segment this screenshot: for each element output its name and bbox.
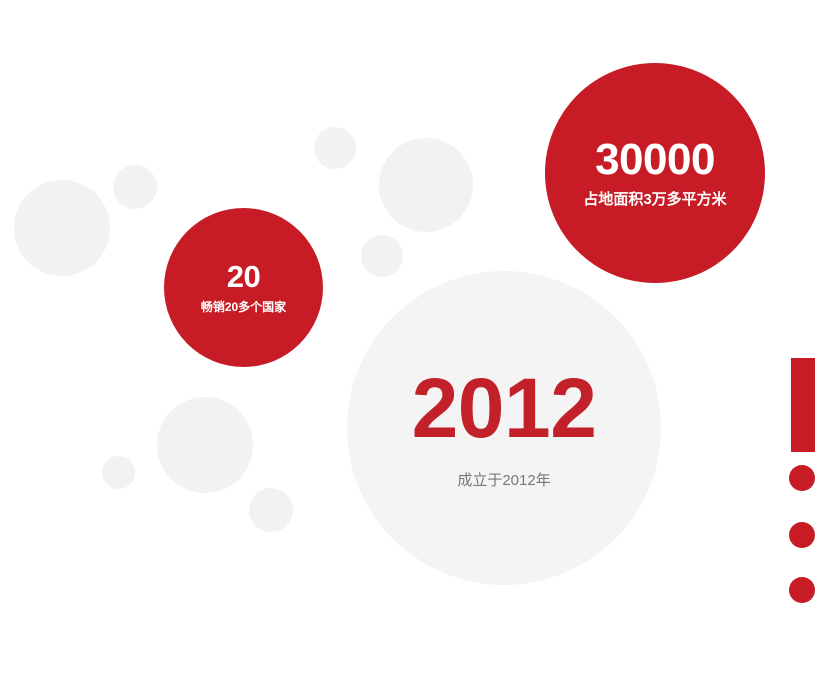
decorative-bubble-medium-lower-left [157, 397, 253, 493]
stat-label-countries: 畅销20多个国家 [201, 300, 286, 314]
stat-bubble-countries[interactable]: 20 畅销20多个国家 [164, 208, 323, 367]
side-bullet-2[interactable] [789, 522, 815, 548]
side-bullet-3[interactable] [789, 577, 815, 603]
stat-value-founded: 2012 [412, 366, 597, 450]
decorative-bubble-small-mid [361, 235, 403, 277]
side-accent-bar [791, 358, 815, 452]
decorative-bubble-medium-top [379, 138, 473, 232]
decorative-bubble-small-top-mid [314, 127, 356, 169]
decorative-bubble-large-left [14, 180, 110, 276]
stat-label-founded: 成立于2012年 [457, 472, 550, 490]
stat-value-area: 30000 [595, 138, 715, 182]
stat-bubble-area[interactable]: 30000 占地面积3万多平方米 [545, 63, 765, 283]
stat-bubble-founded[interactable]: 2012 成立于2012年 [347, 271, 661, 585]
decorative-bubble-small-upper-left [113, 165, 157, 209]
decorative-bubble-small-bottom [249, 488, 293, 532]
side-bullet-1[interactable] [789, 465, 815, 491]
stats-bubble-canvas: 2012 成立于2012年 20 畅销20多个国家 30000 占地面积3万多平… [0, 0, 815, 689]
stat-label-area: 占地面积3万多平方米 [583, 191, 726, 209]
stat-value-countries: 20 [227, 261, 260, 292]
decorative-bubble-tiny-lower-left [102, 456, 135, 489]
side-panel [785, 0, 815, 689]
